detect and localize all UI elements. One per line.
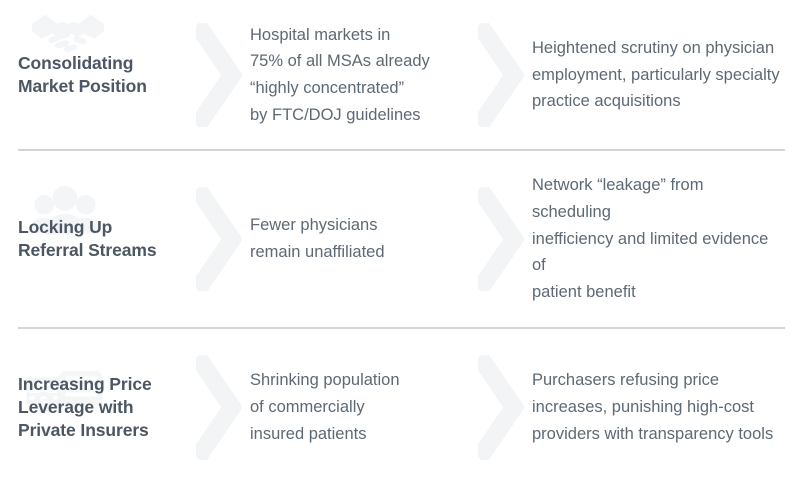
chevron-right-icon (196, 25, 244, 125)
row-right-line: increases, punishing high-cost (532, 394, 782, 421)
row-right-line: patient benefit (532, 279, 782, 306)
row-middle-line: Fewer physicians (250, 212, 468, 239)
row-right-line: practice acquisitions (532, 88, 782, 115)
pressure-point-row: Locking Up Referral Streams Fewer physic… (0, 150, 800, 328)
row-middle-line: of commercially (250, 394, 468, 421)
row-middle-text: Fewer physicians remain unaffiliated (250, 212, 468, 265)
row-heading: Increasing Price Leverage with Private I… (18, 373, 188, 443)
row-heading-line: Referral Streams (18, 239, 188, 262)
row-middle-line: 75% of all MSAs already (250, 48, 468, 75)
row-right-line: Network “leakage” from scheduling (532, 172, 782, 225)
row-right-line: Heightened scrutiny on physician (532, 35, 782, 62)
row-right-line: employment, particularly specialty (532, 62, 782, 89)
pressure-point-row: Increasing Price Leverage with Private I… (0, 328, 800, 487)
row-heading-line: Leverage with (18, 396, 188, 419)
row-heading-line: Private Insurers (18, 419, 188, 442)
row-heading: Locking Up Referral Streams (18, 216, 188, 263)
row-right-line: Purchasers refusing price (532, 367, 782, 394)
pressure-point-row: Consolidating Market Position Hospital m… (0, 0, 800, 150)
row-middle-line: remain unaffiliated (250, 239, 468, 266)
row-middle-line: Shrinking population (250, 367, 468, 394)
row-middle-line: Hospital markets in (250, 22, 468, 49)
row-right-line: providers with transparency tools (532, 421, 782, 448)
row-right-text: Heightened scrutiny on physician employm… (532, 35, 788, 115)
row-middle-line: insured patients (250, 421, 468, 448)
chevron-right-icon (478, 189, 526, 289)
row-heading: Consolidating Market Position (18, 52, 188, 99)
row-right-text: Purchasers refusing price increases, pun… (532, 367, 788, 447)
row-heading-line: Increasing Price (18, 373, 188, 396)
row-right-line: inefficiency and limited evidence of (532, 226, 782, 279)
row-heading-line: Locking Up (18, 216, 188, 239)
row-middle-text: Hospital markets in 75% of all MSAs alre… (250, 22, 468, 129)
row-middle-line: “highly concentrated” (250, 75, 468, 102)
chevron-right-icon (478, 25, 526, 125)
row-right-text: Network “leakage” from scheduling ineffi… (532, 172, 788, 306)
row-middle-text: Shrinking population of commercially ins… (250, 367, 468, 447)
chevron-right-icon (478, 358, 526, 458)
chevron-right-icon (196, 358, 244, 458)
pressure-points-board: $ Consolidating Market Position Hospital… (0, 0, 800, 487)
row-heading-line: Consolidating (18, 52, 188, 75)
chevron-right-icon (196, 189, 244, 289)
row-heading-line: Market Position (18, 75, 188, 98)
row-middle-line: by FTC/DOJ guidelines (250, 102, 468, 129)
